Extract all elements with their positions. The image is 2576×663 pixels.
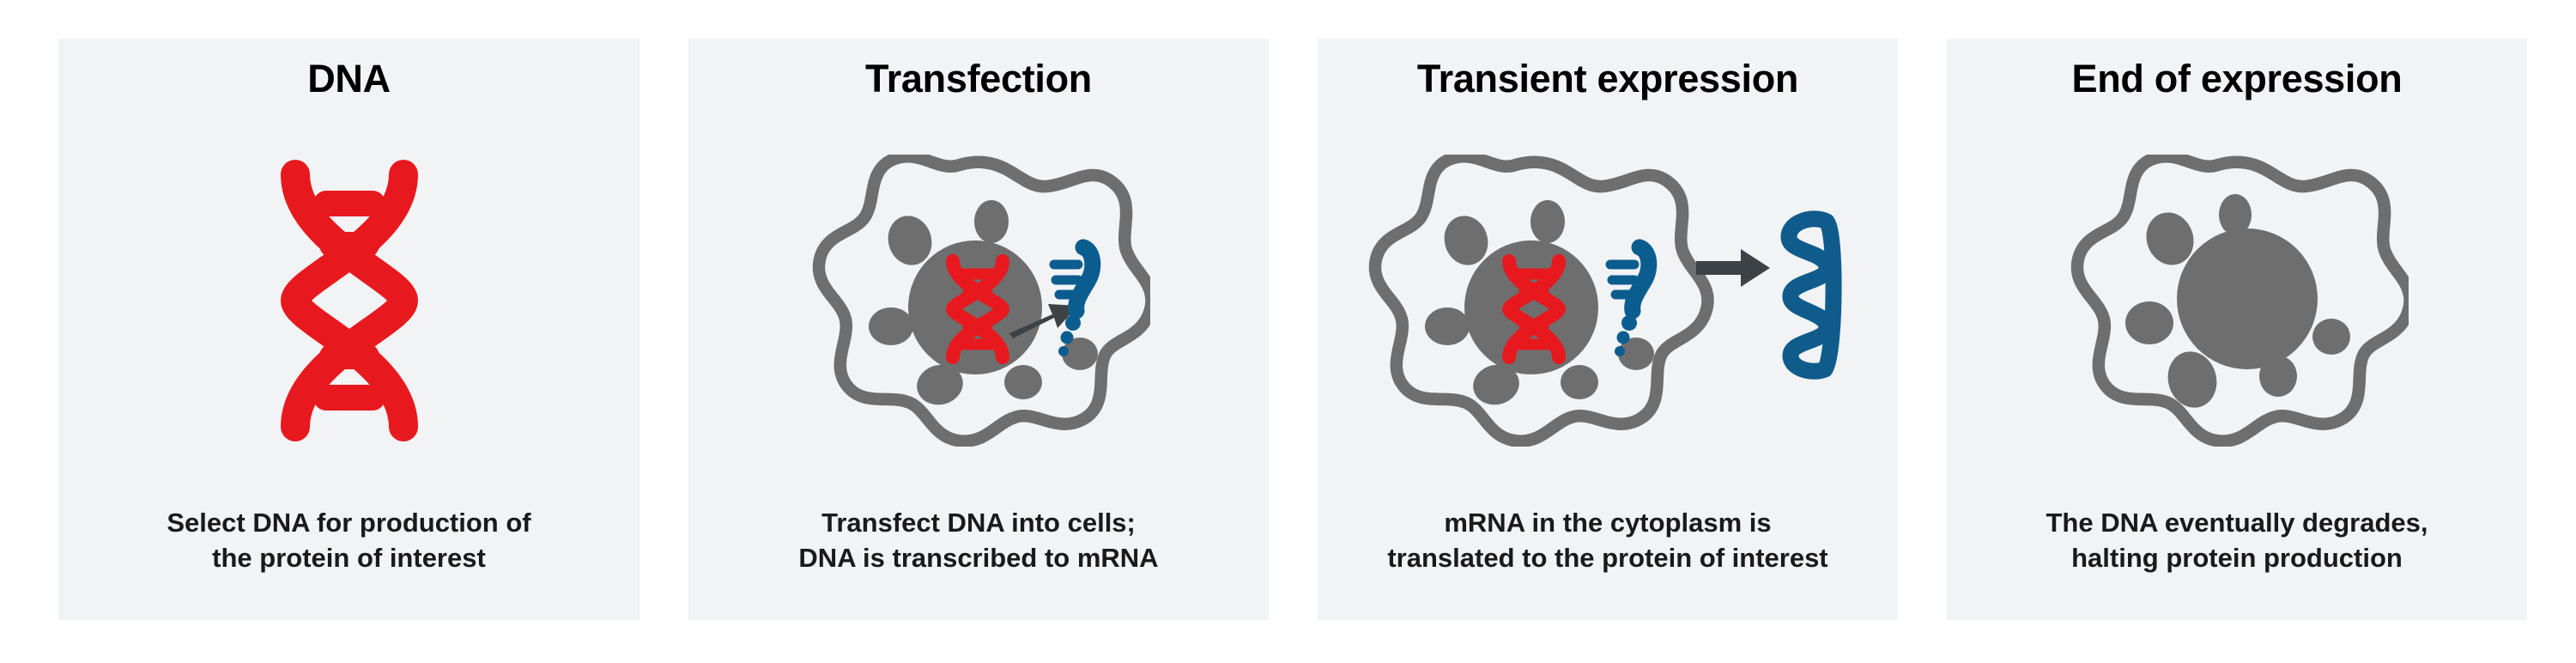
cell-empty-nucleus-icon — [1947, 99, 2527, 506]
panel-caption-transient-expression: mRNA in the cytoplasm is translated to t… — [1373, 506, 1841, 575]
figure-board: DNA Select DNA for production of the pro… — [0, 0, 2576, 663]
panel-title-transfection: Transfection — [865, 58, 1092, 99]
panel-transfection: Transfection — [688, 39, 1269, 620]
panel-title-end-of-expression: End of expression — [2072, 58, 2403, 99]
panel-transient-expression: Transient expression — [1318, 39, 1898, 620]
panel-caption-end-of-expression: The DNA eventually degrades, halting pro… — [2032, 506, 2441, 575]
cell-with-mrna-and-protein-icon — [1318, 99, 1898, 506]
cell-with-dna-and-mrna-icon — [688, 99, 1269, 506]
panel-caption-dna: Select DNA for production of the protein… — [153, 506, 544, 575]
panel-title-dna: DNA — [307, 58, 391, 99]
panel-dna: DNA Select DNA for production of the pro… — [58, 39, 639, 620]
nucleus — [908, 240, 1042, 374]
nucleus — [1464, 240, 1598, 374]
panel-end-of-expression: End of expression The DNA eventuall — [1947, 39, 2527, 620]
dna-double-helix-icon — [58, 99, 639, 506]
nucleus — [2177, 228, 2318, 369]
panel-caption-transfection: Transfect DNA into cells; DNA is transcr… — [785, 506, 1172, 575]
protein-coil — [1789, 219, 1834, 371]
panel-title-transient-expression: Transient expression — [1417, 58, 1798, 99]
